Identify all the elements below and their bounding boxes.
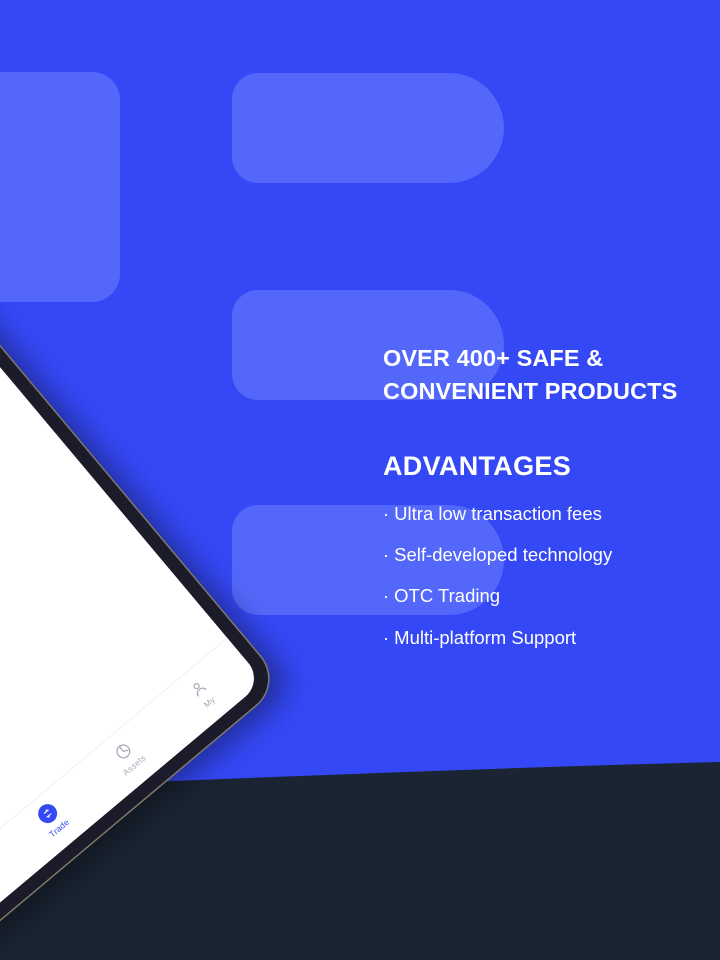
- list-item: ·Self-developed technology: [383, 545, 703, 565]
- list-item-label: Self-developed technology: [394, 544, 612, 565]
- tab-label: My: [202, 694, 217, 709]
- bullet-icon: ·: [383, 504, 389, 524]
- bullet-icon: ·: [383, 586, 389, 606]
- decorative-block-shape: [0, 72, 120, 302]
- promo-banner: USDT Recharge Withdrawal 0.00 Equivalent…: [0, 0, 720, 960]
- list-item-label: Ultra low transaction fees: [394, 503, 602, 524]
- marketing-copy: OVER 400+ SAFE & CONVENIENT PRODUCTS ADV…: [383, 342, 703, 669]
- advantages-list: ·Ultra low transaction fees ·Self-develo…: [383, 504, 703, 648]
- list-item: ·Ultra low transaction fees: [383, 504, 703, 524]
- list-item: ·OTC Trading: [383, 586, 703, 606]
- page-title: OVER 400+ SAFE & CONVENIENT PRODUCTS: [383, 342, 703, 409]
- bullet-icon: ·: [383, 628, 389, 648]
- bullet-icon: ·: [383, 545, 389, 565]
- list-item: ·Multi-platform Support: [383, 628, 703, 648]
- list-item-label: Multi-platform Support: [394, 627, 576, 648]
- decorative-pill-shape-1: [232, 73, 504, 183]
- advantages-title: ADVANTAGES: [383, 451, 703, 482]
- list-item-label: OTC Trading: [394, 585, 500, 606]
